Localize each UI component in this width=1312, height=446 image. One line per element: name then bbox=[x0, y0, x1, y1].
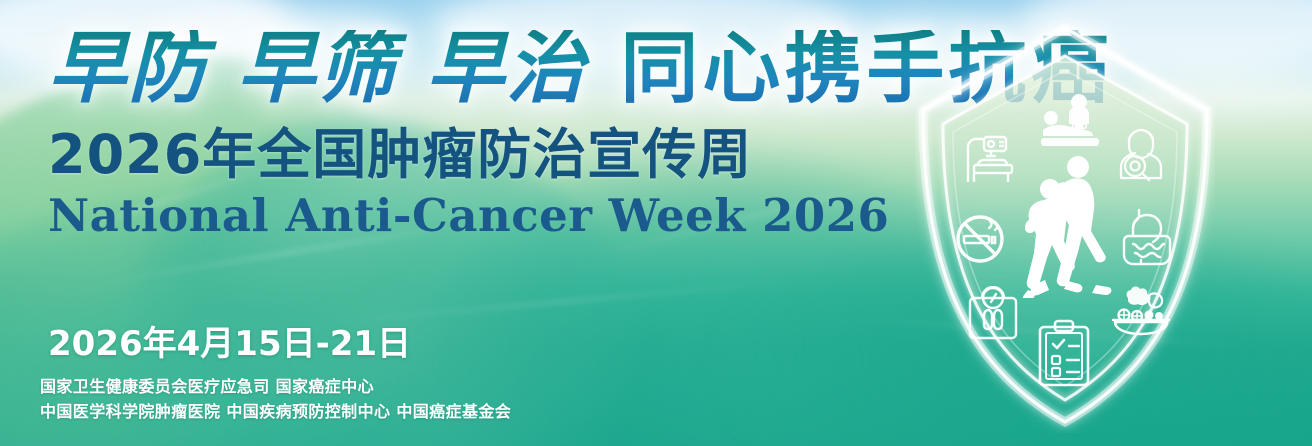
poster-canvas: 早防 早筛 早治同心携手抗癌 2026年全国肿瘤防治宣传周 National A… bbox=[0, 0, 1312, 446]
page-title-en: National Anti-Cancer Week 2026 bbox=[48, 193, 889, 238]
doctor-patient-bed-icon bbox=[1039, 92, 1101, 150]
organizer-block: 国家卫生健康委员会医疗应急司 国家癌症中心 中国医学科学院肿瘤医院 中国疾病预防… bbox=[40, 374, 511, 424]
event-date: 2026年4月15日-21日 bbox=[48, 327, 411, 361]
healthy-food-plate-icon bbox=[1111, 286, 1171, 338]
stomach-intestine-icon bbox=[1119, 206, 1175, 268]
checklist-clipboard-icon bbox=[1033, 318, 1095, 388]
two-runners-icon bbox=[1022, 153, 1114, 298]
light-streak bbox=[301, 277, 819, 326]
page-title-cn: 2026年全国肿瘤防治宣传周 bbox=[48, 128, 752, 182]
shield-emblem bbox=[915, 18, 1215, 433]
ct-scanner-icon bbox=[960, 131, 1018, 189]
organizer-line: 国家卫生健康委员会医疗应急司 国家癌症中心 bbox=[40, 374, 511, 399]
shield-icon-layer bbox=[915, 18, 1215, 433]
breast-screening-icon bbox=[1113, 126, 1169, 186]
headline-segment-1: 早防 早筛 早治 bbox=[48, 23, 586, 114]
weight-scale-icon bbox=[965, 286, 1021, 342]
organizer-line: 中国医学科学院肿瘤医院 中国疾病预防控制中心 中国癌症基金会 bbox=[40, 399, 511, 424]
no-smoking-icon bbox=[951, 210, 1009, 268]
